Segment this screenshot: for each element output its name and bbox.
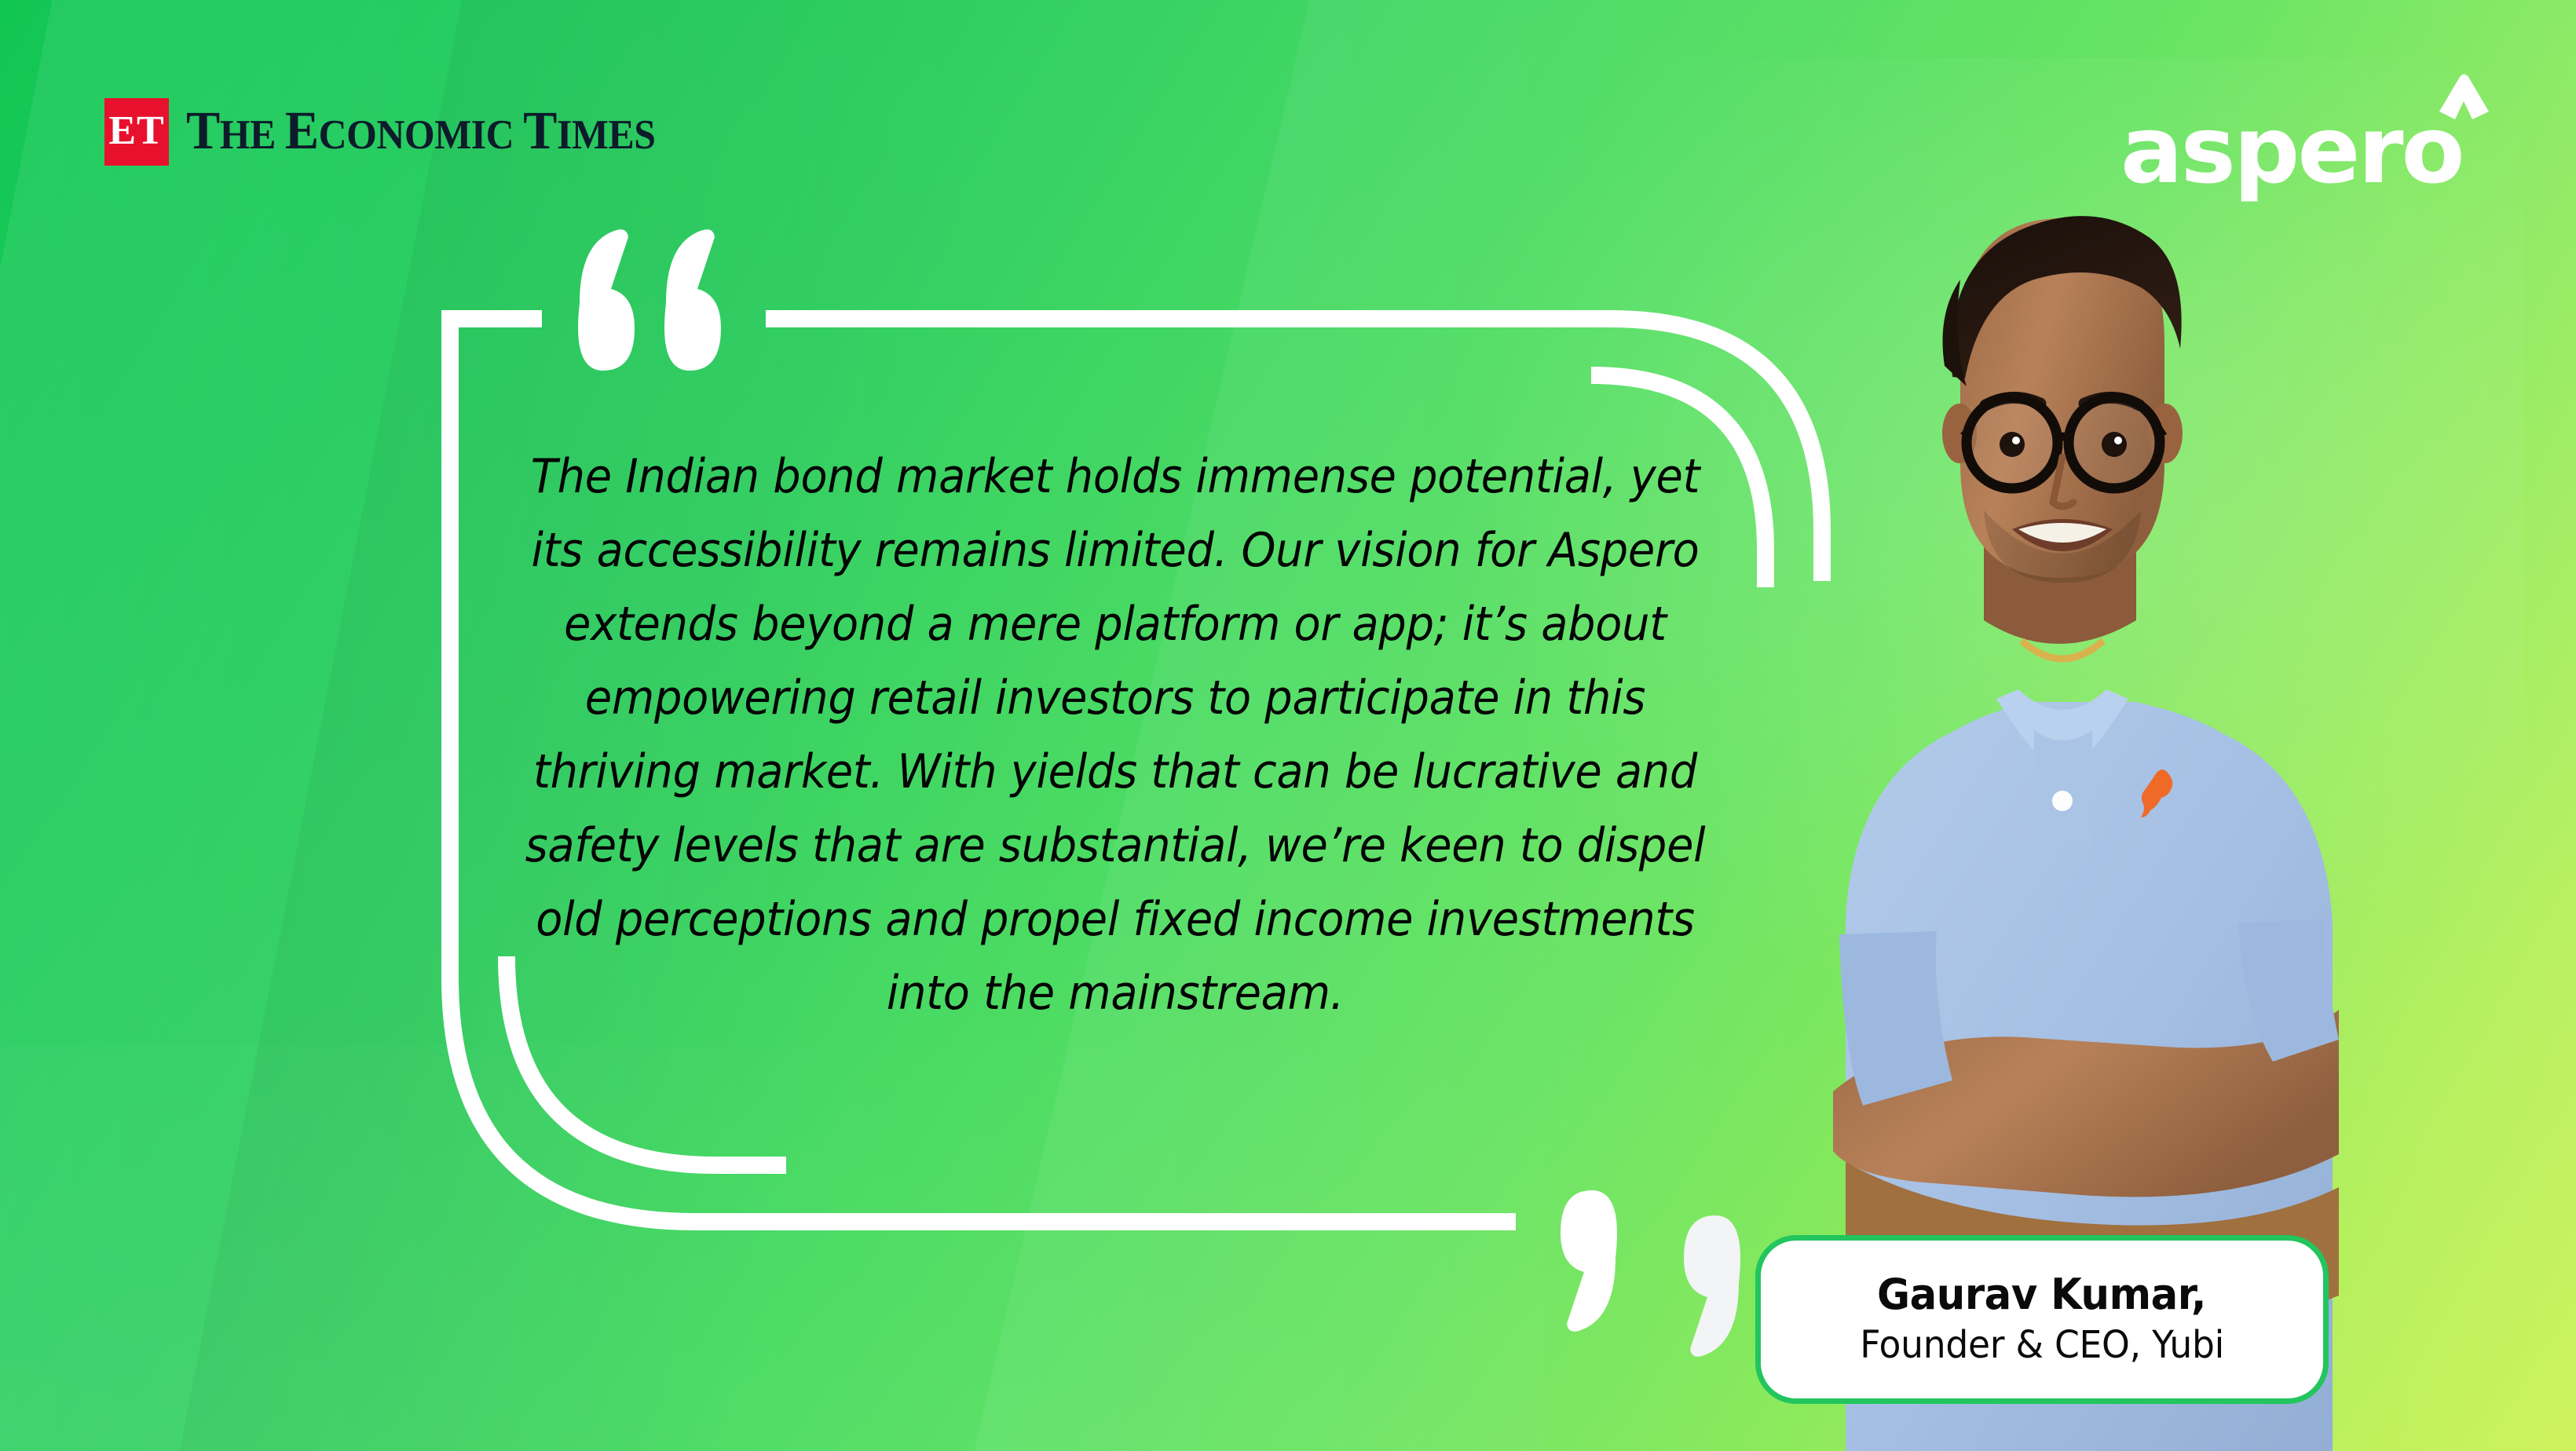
quote-text: The Indian bond market holds immense pot… [516, 440, 1714, 1030]
wordmark-part: CONOMIC [319, 112, 524, 158]
shirt-button [2052, 791, 2073, 811]
wordmark-part: T [186, 101, 220, 160]
closing-quote-icon [1535, 1200, 1653, 1333]
economic-times-logo: ET THE ECONOMIC TIMES [104, 98, 686, 168]
wordmark-part: IMES [557, 112, 655, 158]
et-badge: ET [104, 98, 169, 166]
speaker-name: Gaurav Kumar, [1878, 1272, 2207, 1318]
wordmark-part: E [285, 101, 319, 160]
attribution-card: Gaurav Kumar, Founder & CEO, Yubi [1755, 1235, 2329, 1404]
wordmark-part: T [523, 101, 557, 160]
economic-times-wordmark: THE ECONOMIC TIMES [186, 98, 655, 168]
speaker-role: Founder & CEO, Yubi [1860, 1325, 2224, 1367]
wordmark-part: HE [220, 112, 285, 158]
opening-quote-icon [542, 228, 754, 377]
